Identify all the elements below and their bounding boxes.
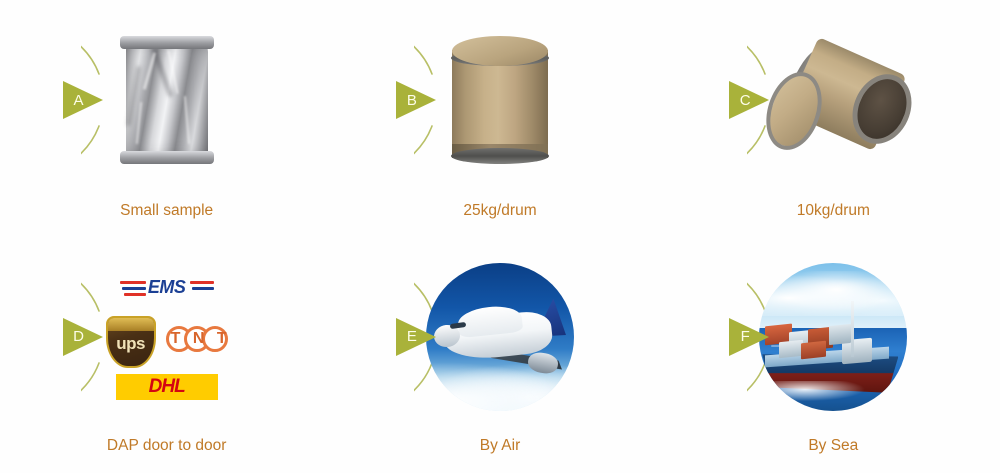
tnt-letter-3: T bbox=[217, 330, 227, 348]
badge-letter-a: A bbox=[63, 77, 95, 123]
tnt-logo-letters: T N T bbox=[166, 324, 232, 354]
dhl-logo-text: DHL bbox=[149, 376, 185, 398]
badge-f[interactable]: F bbox=[729, 314, 773, 360]
item-card-c[interactable]: C 10kg/drum bbox=[667, 0, 1000, 237]
kraft-fiber-drum-image bbox=[425, 25, 575, 175]
open-fiber-drum-with-lid-image bbox=[758, 25, 908, 175]
caption-a: Small sample bbox=[120, 202, 213, 220]
badge-c[interactable]: C bbox=[729, 77, 773, 123]
medallion-a: A bbox=[81, 14, 253, 186]
badge-e[interactable]: E bbox=[396, 314, 440, 360]
container-ship-photo bbox=[759, 263, 907, 411]
medallion-e: E bbox=[414, 251, 586, 423]
ups-logo: ups bbox=[106, 316, 156, 368]
ship-illustration bbox=[759, 263, 907, 411]
ems-logo-text: EMS bbox=[148, 277, 186, 298]
item-card-d[interactable]: D EMS bbox=[0, 237, 333, 473]
ems-logo: EMS bbox=[118, 276, 216, 300]
items-grid: A Small sample bbox=[0, 0, 1000, 473]
silver-foil-pouch-image bbox=[92, 25, 242, 175]
badge-a[interactable]: A bbox=[63, 77, 107, 123]
item-card-b[interactable]: B 25kg/drum bbox=[333, 0, 666, 237]
badge-b[interactable]: B bbox=[396, 77, 440, 123]
badge-letter-b: B bbox=[396, 77, 428, 123]
badge-d[interactable]: D bbox=[63, 314, 107, 360]
medallion-c: C bbox=[747, 14, 919, 186]
caption-d: DAP door to door bbox=[107, 437, 226, 455]
caption-b: 25kg/drum bbox=[463, 202, 536, 220]
tnt-letter-2: N bbox=[193, 330, 205, 348]
medallion-b: B bbox=[414, 14, 586, 186]
ups-logo-text: ups bbox=[106, 334, 156, 354]
airplane-illustration bbox=[432, 297, 572, 383]
medallion-f: F bbox=[747, 251, 919, 423]
dhl-logo: DHL bbox=[116, 374, 218, 400]
caption-f: By Sea bbox=[808, 437, 858, 455]
medallion-d: D EMS bbox=[81, 251, 253, 423]
packaging-shipping-board: A Small sample bbox=[0, 0, 1000, 473]
badge-letter-c: C bbox=[729, 77, 761, 123]
badge-letter-d: D bbox=[63, 314, 95, 360]
cargo-airplane-photo bbox=[426, 263, 574, 411]
badge-letter-f: F bbox=[729, 314, 761, 360]
courier-logos-group: EMS ups T bbox=[92, 262, 242, 412]
caption-c: 10kg/drum bbox=[797, 202, 870, 220]
caption-e: By Air bbox=[480, 437, 520, 455]
badge-letter-e: E bbox=[396, 314, 428, 360]
item-card-a[interactable]: A Small sample bbox=[0, 0, 333, 237]
tnt-logo: T N T bbox=[166, 324, 232, 354]
tnt-letter-1: T bbox=[171, 330, 181, 348]
item-card-f[interactable]: F bbox=[667, 237, 1000, 473]
item-card-e[interactable]: E By Air bbox=[333, 237, 666, 473]
